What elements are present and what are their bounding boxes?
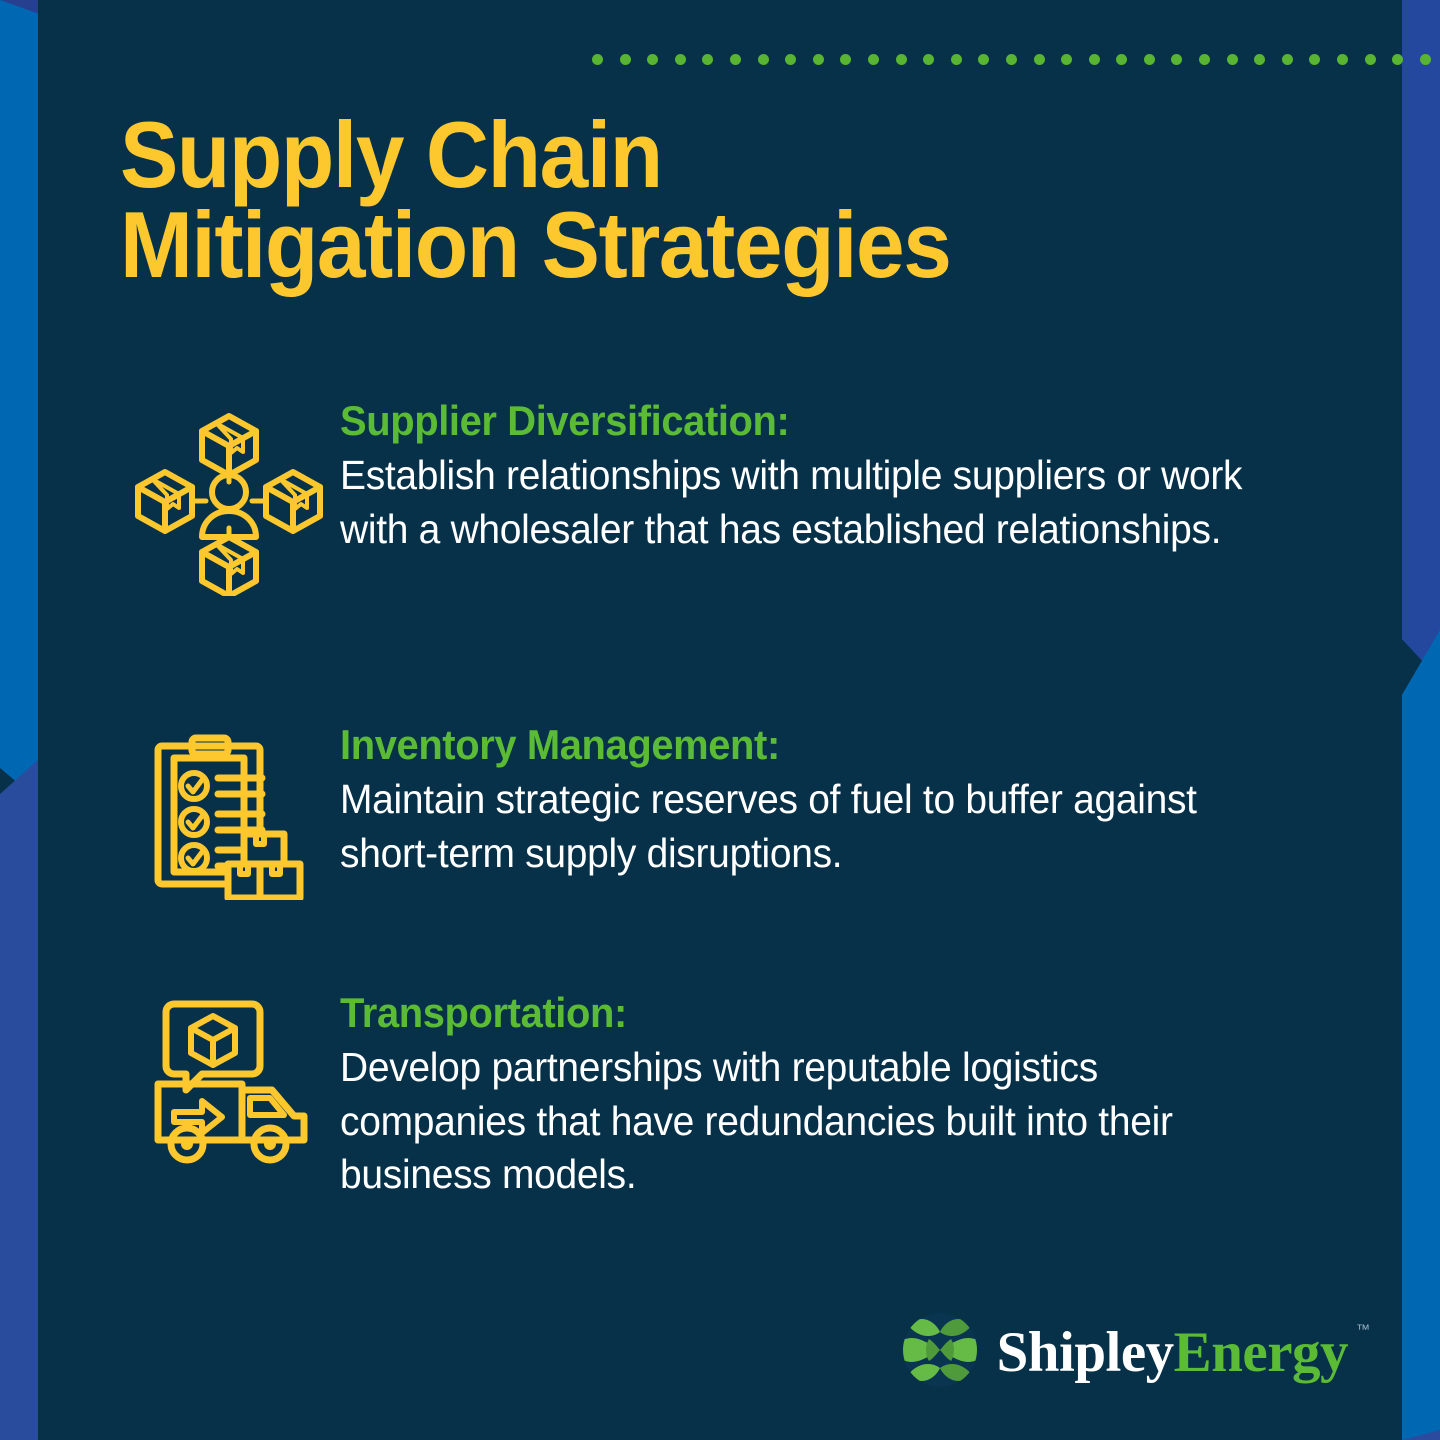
- decorative-dot: [896, 54, 907, 65]
- decorative-dot: [1199, 54, 1210, 65]
- logo-wordmark: ShipleyEnergy: [997, 1324, 1348, 1381]
- decorative-dot: [1254, 54, 1265, 65]
- decorative-dot: [620, 54, 631, 65]
- top-dotted-divider: [592, 54, 1440, 65]
- decorative-dot: [868, 54, 879, 65]
- trademark-symbol: ™: [1356, 1321, 1370, 1337]
- decorative-dot: [1420, 54, 1431, 65]
- left-edge-stripe: [0, 0, 38, 1440]
- strategy-body: Maintain strategic reserves of fuel to b…: [340, 773, 1279, 880]
- strategy-row-inventory-management: Inventory Management: Maintain strategic…: [118, 722, 1328, 900]
- decorative-dot: [758, 54, 769, 65]
- decorative-dot: [1227, 54, 1238, 65]
- delivery-truck-icon: [118, 990, 340, 1168]
- strategy-heading: Transportation:: [340, 990, 1279, 1035]
- strategy-text-block: Supplier Diversification: Establish rela…: [340, 398, 1328, 556]
- infographic-canvas: Supply Chain Mitigation Strategies: [0, 0, 1440, 1440]
- decorative-dot: [1061, 54, 1072, 65]
- left-stripe-blue-band: [0, 0, 38, 800]
- page-title: Supply Chain Mitigation Strategies: [120, 110, 1162, 290]
- decorative-dot: [1006, 54, 1017, 65]
- brand-logo: ShipleyEnergy ™: [901, 1311, 1370, 1394]
- strategy-row-transportation: Transportation: Develop partnerships wit…: [118, 990, 1328, 1201]
- strategy-body: Establish relationships with multiple su…: [340, 449, 1279, 556]
- decorative-dot: [1034, 54, 1045, 65]
- decorative-dot: [730, 54, 741, 65]
- logo-word-shipley: Shipley: [997, 1321, 1174, 1384]
- decorative-dot: [702, 54, 713, 65]
- logo-word-energy: Energy: [1174, 1321, 1348, 1384]
- strategy-heading: Supplier Diversification:: [340, 398, 1279, 443]
- decorative-dot: [647, 54, 658, 65]
- decorative-dot: [1144, 54, 1155, 65]
- strategy-heading: Inventory Management:: [340, 722, 1279, 767]
- clipboard-checklist-boxes-icon: [118, 722, 340, 900]
- strategy-row-supplier-diversification: Supplier Diversification: Establish rela…: [118, 398, 1328, 596]
- strategy-body: Develop partnerships with reputable logi…: [340, 1041, 1279, 1201]
- strategy-text-block: Transportation: Develop partnerships wit…: [340, 990, 1328, 1201]
- decorative-dot: [978, 54, 989, 65]
- supplier-network-icon: [118, 398, 340, 596]
- decorative-dot: [1392, 54, 1403, 65]
- decorative-dot: [840, 54, 851, 65]
- decorative-dot: [1337, 54, 1348, 65]
- left-stripe-indigo-band: [0, 760, 38, 1440]
- shipley-leaf-globe-icon: [901, 1311, 979, 1394]
- decorative-dot: [1282, 54, 1293, 65]
- decorative-dot: [923, 54, 934, 65]
- decorative-dot: [1116, 54, 1127, 65]
- decorative-dot: [1309, 54, 1320, 65]
- decorative-dot: [1365, 54, 1376, 65]
- decorative-dot: [675, 54, 686, 65]
- decorative-dot: [813, 54, 824, 65]
- decorative-dot: [951, 54, 962, 65]
- decorative-dot: [592, 54, 603, 65]
- right-stripe-blue-band: [1402, 630, 1440, 1440]
- decorative-dot: [1089, 54, 1100, 65]
- decorative-dot: [785, 54, 796, 65]
- strategy-text-block: Inventory Management: Maintain strategic…: [340, 722, 1328, 880]
- decorative-dot: [1171, 54, 1182, 65]
- right-edge-stripe: [1402, 0, 1440, 1440]
- right-stripe-indigo-band: [1402, 0, 1440, 680]
